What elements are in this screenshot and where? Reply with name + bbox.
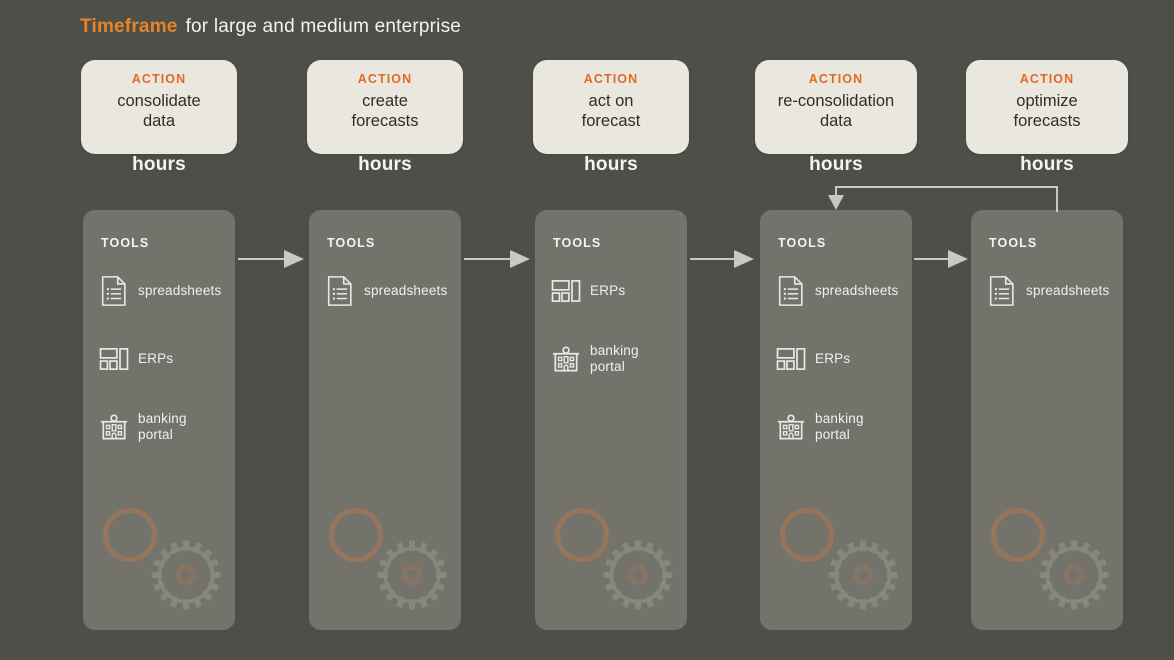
- tool-label: banking portal: [138, 411, 187, 443]
- tool-item[interactable]: ERPs: [99, 336, 239, 382]
- feedback-loop-arrow-icon: [826, 180, 1060, 214]
- tool-label: spreadsheets: [364, 283, 447, 299]
- gear-icon: [369, 532, 455, 618]
- gear-icon: [595, 532, 681, 618]
- tool-item[interactable]: banking portal: [551, 336, 691, 382]
- duration-unit: hours: [971, 154, 1123, 176]
- ring-icon: [329, 508, 383, 562]
- action-card[interactable]: ACTION re-consolidation data: [755, 60, 917, 154]
- tools-list: spreadsheets: [987, 268, 1127, 336]
- document-list-icon: [99, 275, 129, 307]
- duration-unit: hours: [535, 154, 687, 176]
- duration-unit: hours: [760, 154, 912, 176]
- duration-unit: hours: [309, 154, 461, 176]
- tools-list: ERPs banking portal: [551, 268, 691, 404]
- ring-icon: [991, 508, 1045, 562]
- tool-item[interactable]: banking portal: [776, 404, 916, 450]
- stage-optimize-forecasts[interactable]: 25-50 hours ACTION optimize forecasts TO…: [971, 60, 1123, 176]
- dashboard-grid-icon: [551, 275, 581, 307]
- tool-label: spreadsheets: [815, 283, 898, 299]
- dashboard-grid-icon: [99, 343, 129, 375]
- action-card[interactable]: ACTION optimize forecasts: [966, 60, 1128, 154]
- bank-building-icon: [99, 411, 129, 443]
- action-card[interactable]: ACTION consolidate data: [81, 60, 237, 154]
- document-list-icon: [987, 275, 1017, 307]
- tool-label: ERPs: [590, 283, 625, 299]
- gear-icon: [1031, 532, 1117, 618]
- action-title: create forecasts: [313, 91, 457, 132]
- document-list-icon: [325, 275, 355, 307]
- action-kicker: ACTION: [972, 72, 1122, 86]
- arrow-right-icon: [690, 245, 758, 273]
- tool-label: spreadsheets: [1026, 283, 1109, 299]
- action-title: act on forecast: [539, 91, 683, 132]
- tool-item[interactable]: ERPs: [551, 268, 691, 314]
- tool-item[interactable]: spreadsheets: [325, 268, 465, 314]
- stage-create-forecasts[interactable]: 50-100 hours ACTION create forecasts TOO…: [309, 60, 461, 176]
- timeframe-flow-diagram: 25-50 hours ACTION consolidate data TOOL…: [0, 0, 1174, 660]
- bank-building-icon: [551, 343, 581, 375]
- tool-label: banking portal: [590, 343, 639, 375]
- tool-item[interactable]: spreadsheets: [987, 268, 1127, 314]
- document-list-icon: [776, 275, 806, 307]
- action-kicker: ACTION: [87, 72, 231, 86]
- tool-label: spreadsheets: [138, 283, 221, 299]
- gear-icon: [143, 532, 229, 618]
- tool-label: ERPs: [138, 351, 173, 367]
- stage-re-consolidation-data[interactable]: 25-50 hours ACTION re-consolidation data…: [760, 60, 912, 176]
- tools-list: spreadsheets ERPs banking portal: [99, 268, 239, 472]
- action-card[interactable]: ACTION create forecasts: [307, 60, 463, 154]
- action-title: re-consolidation data: [761, 91, 911, 132]
- action-kicker: ACTION: [539, 72, 683, 86]
- gear-icon: [820, 532, 906, 618]
- arrow-right-icon: [914, 245, 972, 273]
- ring-icon: [780, 508, 834, 562]
- duration-unit: hours: [83, 154, 235, 176]
- tools-label: TOOLS: [989, 236, 1037, 250]
- tool-label: ERPs: [815, 351, 850, 367]
- tool-item[interactable]: ERPs: [776, 336, 916, 382]
- tool-item[interactable]: spreadsheets: [99, 268, 239, 314]
- tools-list: spreadsheets ERPs banking portal: [776, 268, 916, 472]
- action-title: optimize forecasts: [972, 91, 1122, 132]
- action-title: consolidate data: [87, 91, 231, 132]
- tools-label: TOOLS: [327, 236, 375, 250]
- tools-label: TOOLS: [101, 236, 149, 250]
- dashboard-grid-icon: [776, 343, 806, 375]
- ring-icon: [103, 508, 157, 562]
- tools-list: spreadsheets: [325, 268, 465, 336]
- stage-act-on-forecast[interactable]: 20-40 hours ACTION act on forecast TOOLS…: [535, 60, 687, 176]
- tools-label: TOOLS: [778, 236, 826, 250]
- tools-label: TOOLS: [553, 236, 601, 250]
- tool-item[interactable]: banking portal: [99, 404, 239, 450]
- arrow-right-icon: [464, 245, 534, 273]
- ring-icon: [555, 508, 609, 562]
- action-kicker: ACTION: [313, 72, 457, 86]
- bank-building-icon: [776, 411, 806, 443]
- tool-item[interactable]: spreadsheets: [776, 268, 916, 314]
- arrow-right-icon: [238, 245, 308, 273]
- tool-label: banking portal: [815, 411, 864, 443]
- action-kicker: ACTION: [761, 72, 911, 86]
- stage-consolidate-data[interactable]: 25-50 hours ACTION consolidate data TOOL…: [83, 60, 235, 176]
- action-card[interactable]: ACTION act on forecast: [533, 60, 689, 154]
